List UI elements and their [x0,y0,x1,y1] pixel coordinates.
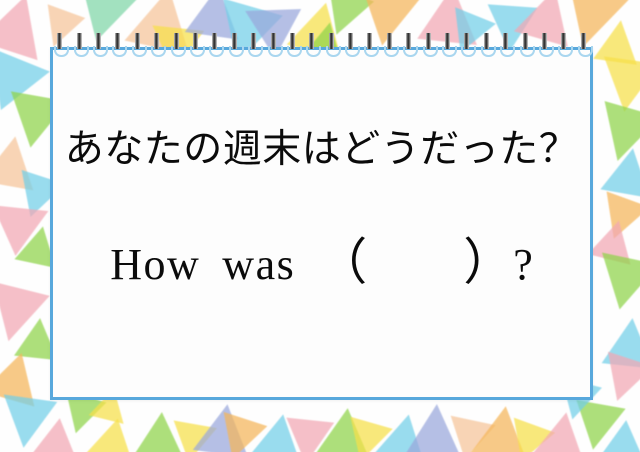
open-paren: （ [317,234,367,290]
confetti-triangle [352,0,423,51]
english-word-was: was [222,240,295,289]
question-mark: ? [513,240,533,289]
confetti-triangle [600,144,640,198]
notepad-card-body: あなたの週末はどうだった？ Howwas（）? [53,50,590,397]
english-prompt-line: Howwas（）? [53,235,590,290]
close-paren: ） [463,234,513,290]
confetti-triangle [598,418,640,452]
confetti-triangle [591,253,640,316]
english-word-how: How [110,240,200,289]
notepad-card: あなたの週末はどうだった？ Howwas（）? [50,47,593,400]
poster-canvas: あなたの週末はどうだった？ Howwas（）? [0,0,640,452]
japanese-question-text: あなたの週末はどうだった？ [53,128,590,173]
